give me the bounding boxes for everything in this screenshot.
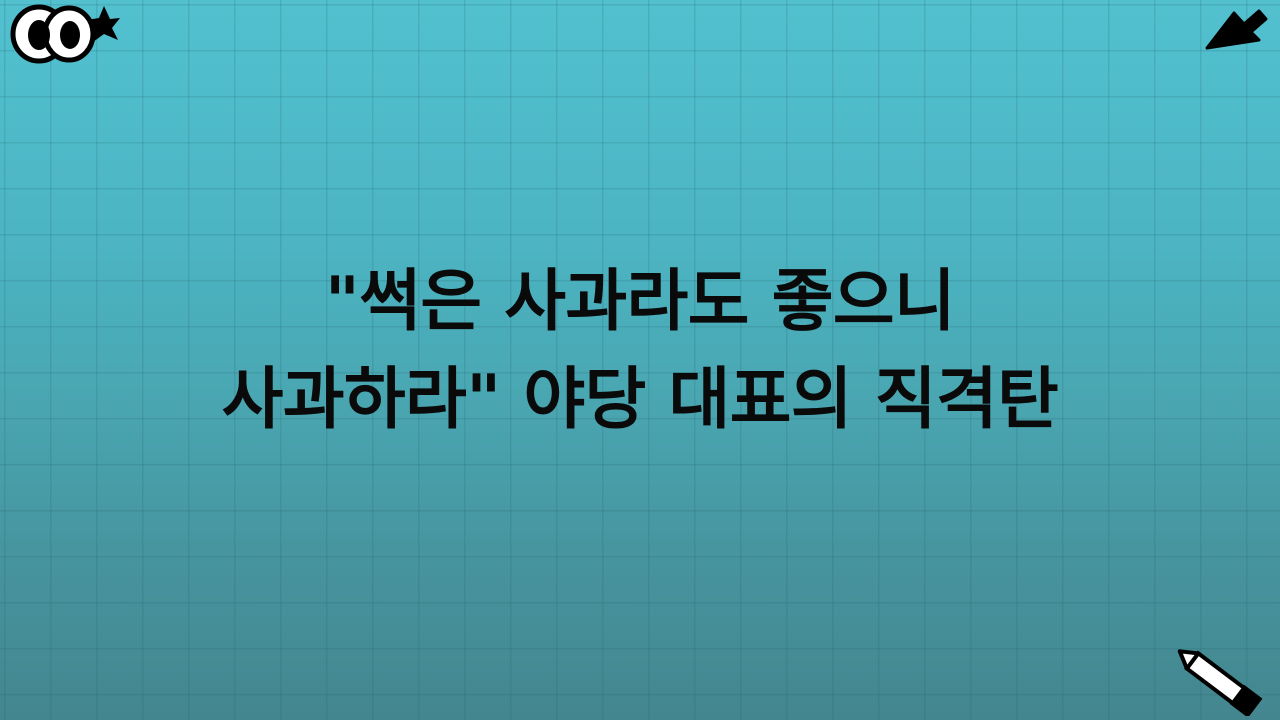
headline-block: "썩은 사과라도 좋으니 사과하라" 야당 대표의 직격탄 xyxy=(0,252,1280,448)
news-card: "썩은 사과라도 좋으니 사과하라" 야당 대표의 직격탄 xyxy=(0,0,1280,720)
pencil-icon xyxy=(1168,646,1272,716)
headline-line-1: "썩은 사과라도 좋으니 xyxy=(40,252,1240,350)
eyes-group xyxy=(13,7,93,61)
headline-line-2: 사과하라" 야당 대표의 직격탄 xyxy=(40,350,1240,448)
googly-eyes-star-icon xyxy=(8,2,120,64)
arrow-cursor-icon xyxy=(1204,4,1268,54)
